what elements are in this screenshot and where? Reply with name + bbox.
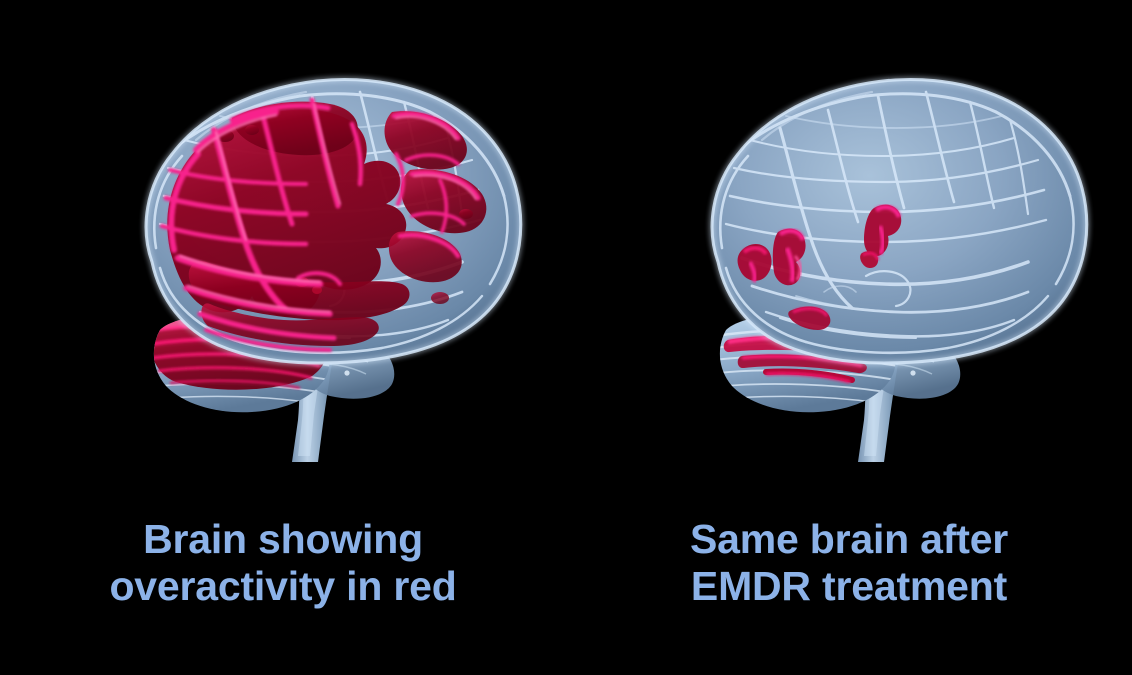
caption-before-line2: overactivity in red: [23, 563, 543, 610]
caption-before: Brain showing overactivity in red: [23, 516, 543, 610]
brain-image-after: [566, 0, 1132, 500]
figure-canvas: Brain showing overactivity in red Same b…: [0, 0, 1132, 675]
caption-after-line1: Same brain after: [589, 516, 1109, 563]
cerebrum-before: [146, 79, 521, 363]
brain-panel-after: [566, 0, 1132, 500]
caption-after: Same brain after EMDR treatment: [589, 516, 1109, 610]
cerebrum-after: [712, 79, 1087, 363]
brain-panel-before: [0, 0, 566, 500]
brain-image-before: [0, 0, 566, 500]
caption-after-line2: EMDR treatment: [589, 563, 1109, 610]
caption-before-line1: Brain showing: [23, 516, 543, 563]
